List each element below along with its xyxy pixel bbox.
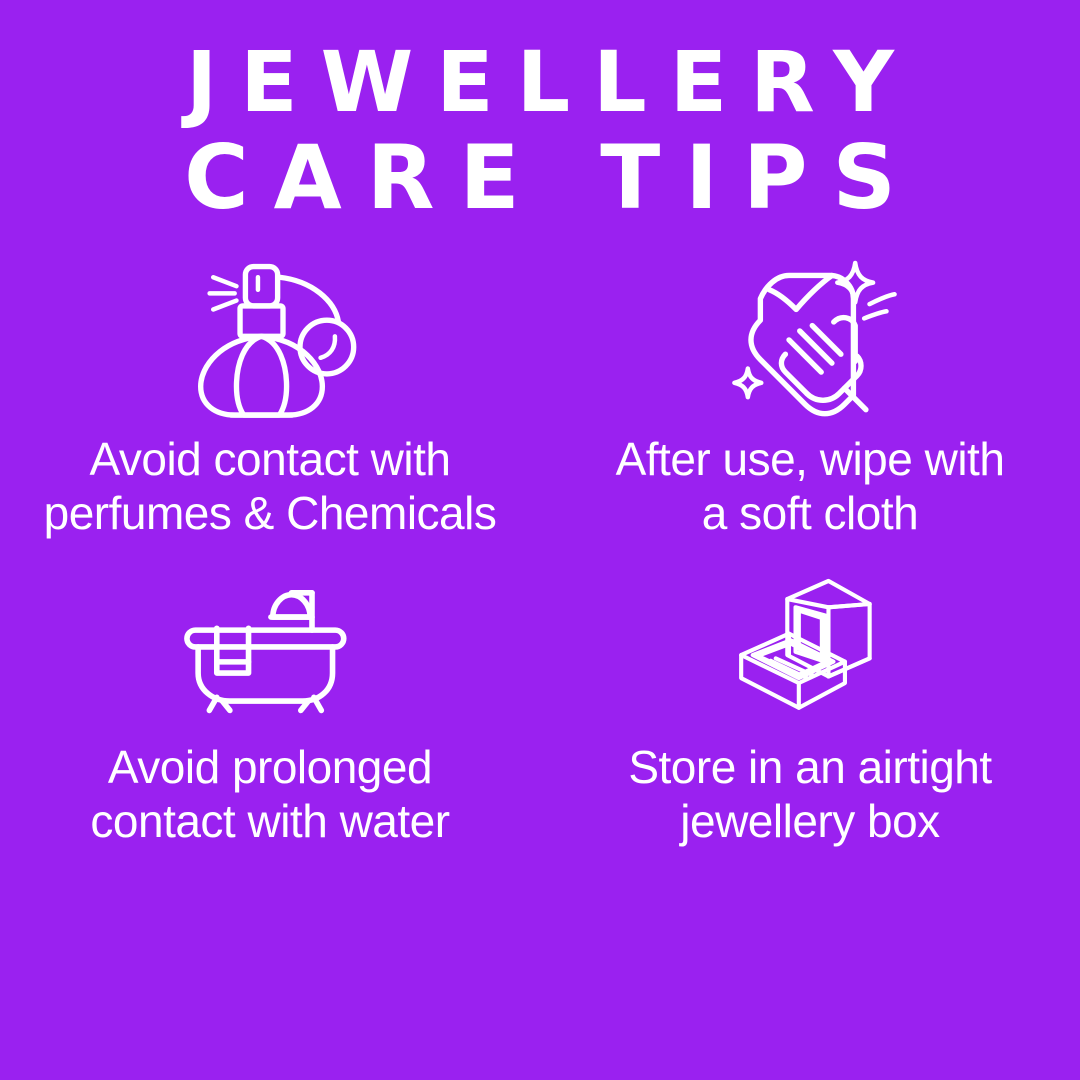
poster-title: JEWELLERY CARE TIPS	[0, 0, 1080, 230]
jewellery-care-tips-poster: JEWELLERY CARE TIPS	[0, 0, 1080, 1080]
perfume-bottle-icon	[181, 254, 360, 424]
tip-card-wipe-cloth: After use, wipe with a soft cloth	[540, 254, 1080, 554]
tip-caption-jewellery-box: Store in an airtight jewellery box	[628, 740, 991, 849]
tip-caption-perfume: Avoid contact with perfumes & Chemicals	[44, 432, 497, 541]
tips-grid: Avoid contact with perfumes & Chemicals	[0, 254, 1080, 854]
tip-card-perfume: Avoid contact with perfumes & Chemicals	[0, 254, 540, 554]
jewellery-box-icon	[728, 576, 893, 716]
bathtub-icon	[172, 576, 368, 716]
tip-card-jewellery-box: Store in an airtight jewellery box	[540, 554, 1080, 876]
tip-caption-bathtub: Avoid prolonged contact with water	[90, 740, 449, 849]
tip-caption-wipe-cloth: After use, wipe with a soft cloth	[616, 432, 1005, 541]
title-line-1: JEWELLERY	[0, 34, 1080, 131]
hand-wiping-cloth-icon	[721, 254, 900, 424]
tip-card-bathtub: Avoid prolonged contact with water	[0, 554, 540, 876]
title-line-2: CARE TIPS	[0, 127, 1080, 229]
